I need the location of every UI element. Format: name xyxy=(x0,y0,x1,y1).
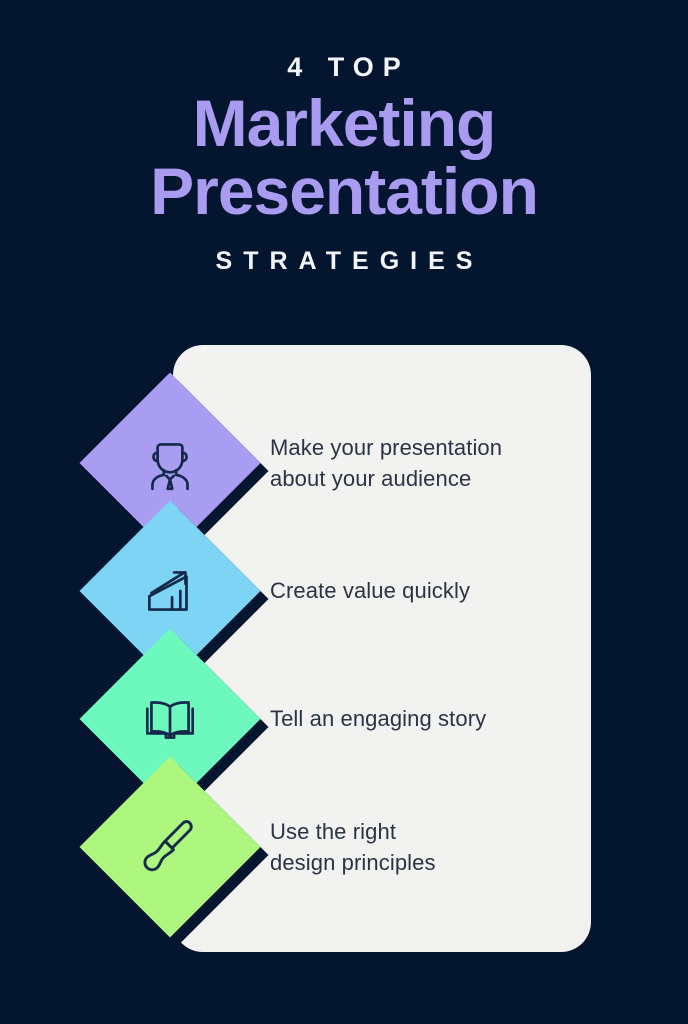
list-item[interactable]: Use the right design principles xyxy=(0,783,688,913)
list-item[interactable]: Make your presentation about your audien… xyxy=(0,399,688,529)
list-item[interactable]: Create value quickly xyxy=(0,527,688,657)
strategy-list: Make your presentation about your audien… xyxy=(0,0,688,1024)
paintbrush-icon xyxy=(106,783,234,911)
list-item[interactable]: Tell an engaging story xyxy=(0,655,688,785)
item-text-line-1: Use the right xyxy=(270,816,570,847)
item-text: Tell an engaging story xyxy=(270,655,570,783)
item-text-line-1: Create value quickly xyxy=(270,575,570,606)
item-text-line-1: Make your presentation xyxy=(270,432,570,463)
item-text-line-1: Tell an engaging story xyxy=(270,703,570,734)
item-text: Use the right design principles xyxy=(270,783,570,911)
diamond-badge xyxy=(106,783,234,911)
item-text: Make your presentation about your audien… xyxy=(270,399,570,527)
item-text-line-2: about your audience xyxy=(270,463,570,494)
item-text: Create value quickly xyxy=(270,527,570,655)
item-text-line-2: design principles xyxy=(270,847,570,878)
